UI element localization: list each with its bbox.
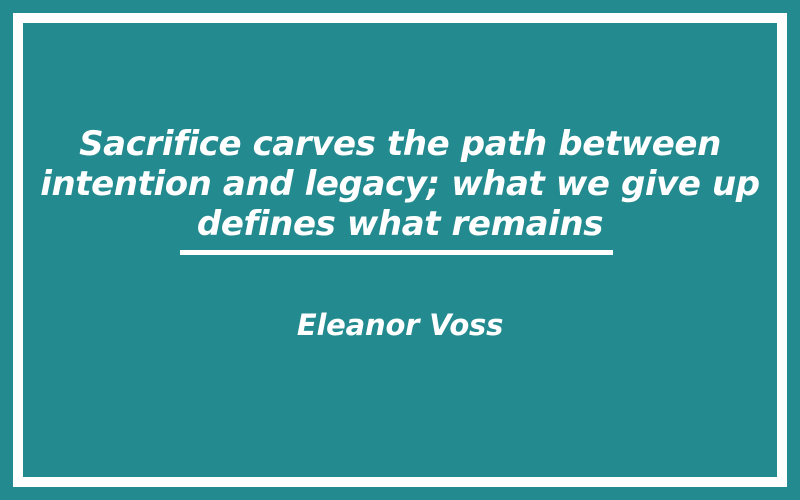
quote-line-1: Sacrifice carves the path between <box>23 124 777 164</box>
card-content: Sacrifice carves the path between intent… <box>23 23 777 477</box>
quote-card: Sacrifice carves the path between intent… <box>0 0 800 500</box>
divider-rule <box>180 250 613 255</box>
quote-text: Sacrifice carves the path between intent… <box>23 124 777 244</box>
quote-line-2: intention and legacy; what we give up <box>23 164 777 204</box>
quote-line-3: defines what remains <box>23 204 777 244</box>
author-name: Eleanor Voss <box>23 308 777 342</box>
